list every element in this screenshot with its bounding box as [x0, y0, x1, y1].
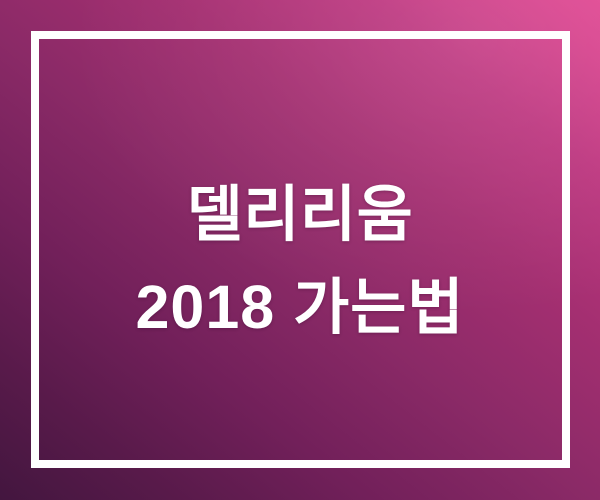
gradient-background [0, 0, 600, 500]
poster-canvas: 델리리움 2018 가는법 [0, 0, 600, 500]
